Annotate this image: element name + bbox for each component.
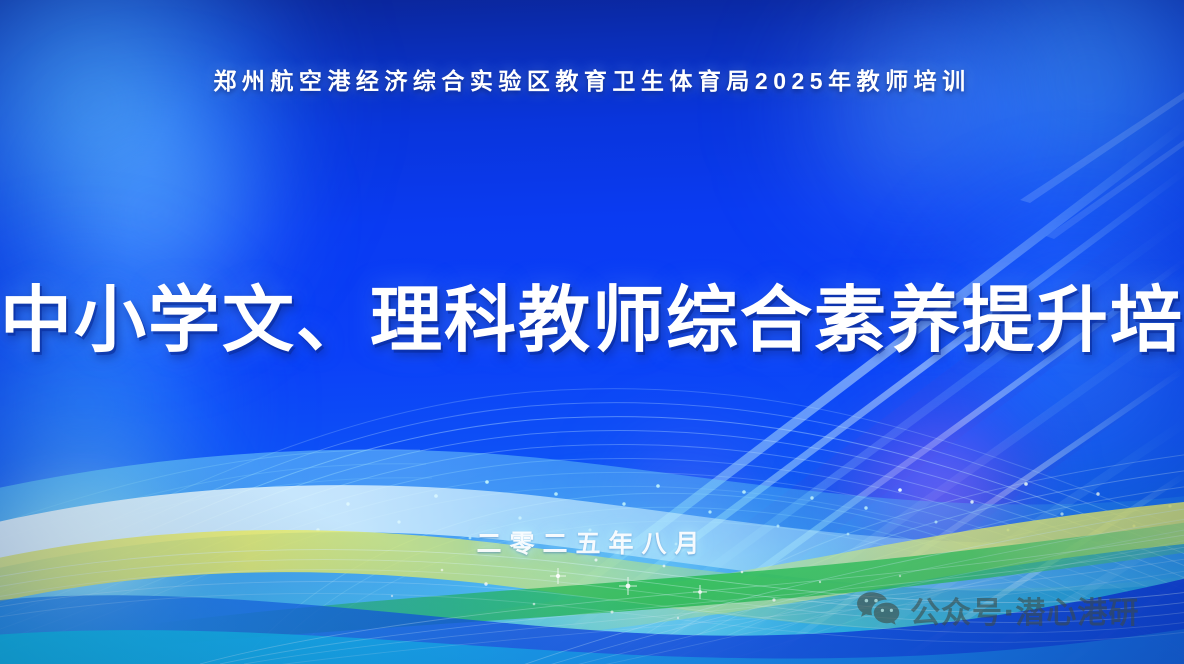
watermark-text: 公众号·潜心港研: [910, 588, 1139, 632]
page-title: 中小学文、理科教师综合素养提升培训: [0, 280, 1184, 363]
wechat-icon: [855, 590, 901, 630]
watermark: 公众号·潜心港研: [855, 588, 1139, 632]
poster-canvas: 郑州航空港经济综合实验区教育卫生体育局2025年教师培训 中小学文、理科教师综合…: [0, 0, 1184, 664]
date-label: 二零二五年八月: [0, 524, 1184, 560]
organization-header: 郑州航空港经济综合实验区教育卫生体育局2025年教师培训: [0, 62, 1184, 96]
